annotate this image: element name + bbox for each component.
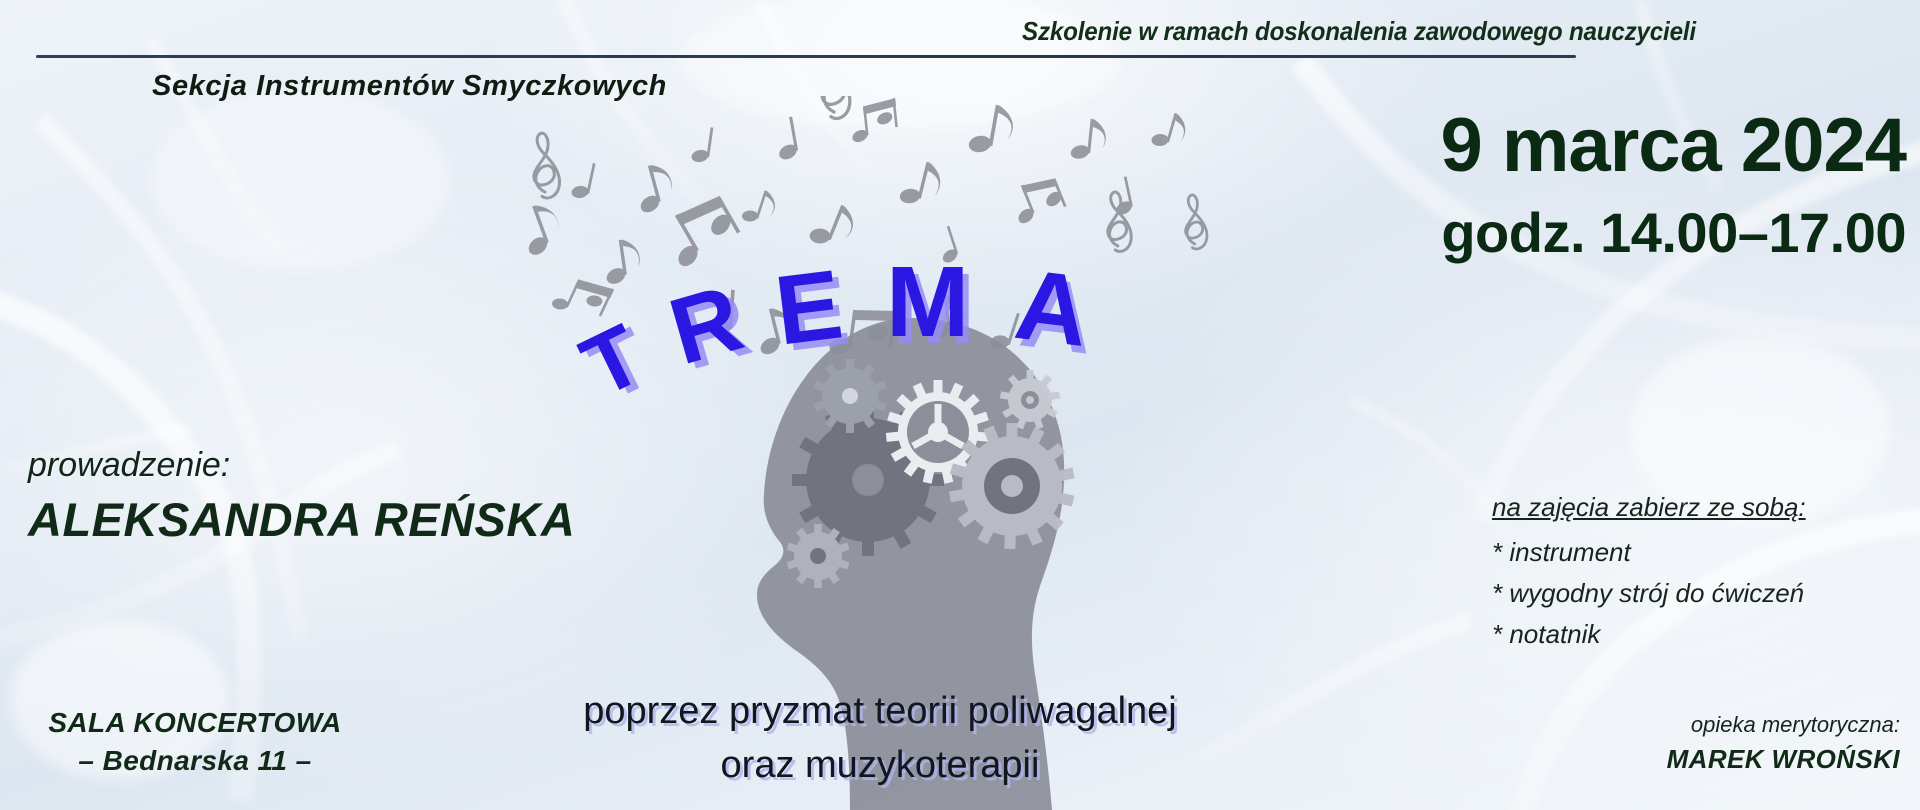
title-letter-3: E [770, 254, 847, 359]
poster-canvas: Szkolenie w ramach doskonalenia zawodowe… [0, 0, 1920, 810]
training-header-text: Szkolenie w ramach doskonalenia zawodowe… [1022, 16, 1580, 47]
venue-block: SALA KONCERTOWA – Bednarska 11 – [30, 704, 360, 780]
event-date: 9 marca 2024 [1146, 108, 1906, 184]
event-title-trema: T R E M A [586, 252, 1226, 432]
bring-list: * instrument * wygodny strój do ćwiczeń … [1492, 532, 1804, 655]
header-divider-rule [36, 55, 1576, 58]
list-item: * instrument [1492, 532, 1804, 573]
presenter-name: ALEKSANDRA REŃSKA [28, 492, 575, 547]
list-item: * notatnik [1492, 614, 1804, 655]
subtitle-line-1: poprzez pryzmat teorii poliwagalnej [520, 684, 1240, 738]
list-item: * wygodny strój do ćwiczeń [1492, 573, 1804, 614]
title-letter-2: R [660, 270, 751, 379]
title-letter-1: T [570, 311, 655, 411]
event-time: godz. 14.00–17.00 [1146, 205, 1906, 261]
venue-name: SALA KONCERTOWA [30, 704, 360, 742]
venue-address: – Bednarska 11 – [30, 742, 360, 780]
event-subtitle: poprzez pryzmat teorii poliwagalnej oraz… [520, 684, 1240, 792]
bring-list-title: na zajęcia zabierz ze sobą: [1492, 492, 1806, 523]
section-title: Sekcja Instrumentów Smyczkowych [152, 70, 667, 103]
supervision-label: opieka merytoryczna: [1380, 712, 1900, 738]
subtitle-line-2: oraz muzykoterapii [520, 738, 1240, 792]
presenter-label: prowadzenie: [28, 446, 230, 485]
supervision-name: MAREK WROŃSKI [1380, 744, 1900, 775]
title-letter-4: M [886, 252, 969, 352]
title-letter-5: A [1010, 254, 1094, 362]
